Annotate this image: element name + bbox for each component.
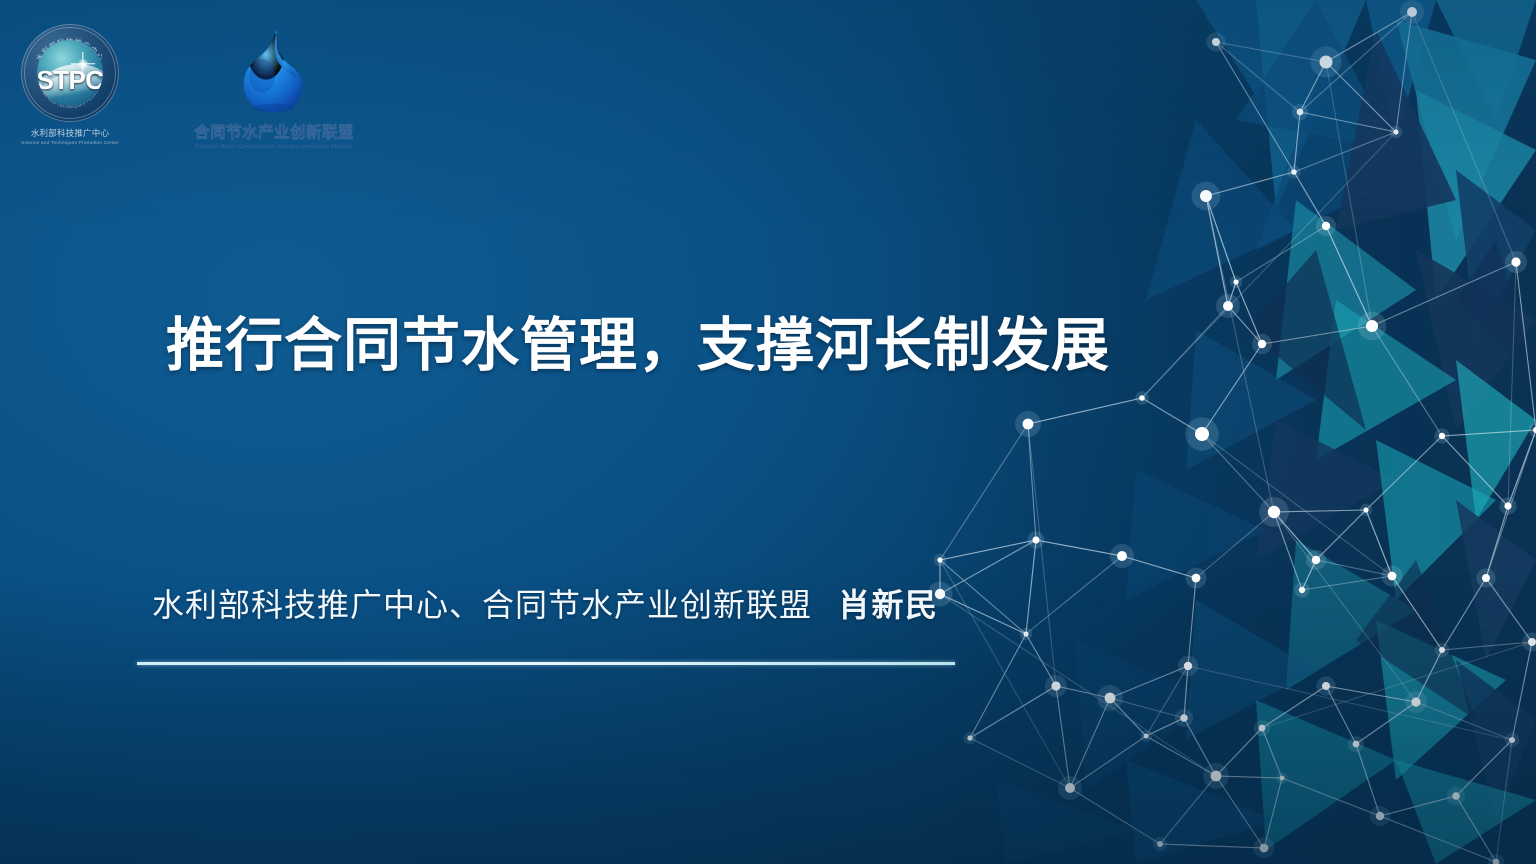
byline-organization: 水利部科技推广中心、合同节水产业创新联盟 [152,587,812,623]
water-drop-icon [238,28,310,116]
alliance-name-cn: 合同节水产业创新联盟 [194,120,354,142]
alliance-name-en: Contract Water Conservation Industry Inn… [195,144,353,150]
byline-presenter: 肖新民 [838,587,939,623]
title-slide: 水利部科技推广中心 SCIENCE AND TECHNIQUES PROMOTI… [0,0,1536,864]
stpc-seal-icon: 水利部科技推广中心 SCIENCE AND TECHNIQUES PROMOTI… [21,24,119,122]
logo-row: 水利部科技推广中心 SCIENCE AND TECHNIQUES PROMOTI… [18,24,364,150]
seal-inner-disc: STPC [37,40,103,106]
stpc-acronym: STPC [37,65,103,96]
stpc-name-cn: 水利部科技推广中心 [31,127,109,139]
divider-rule [137,662,955,665]
logo-stpc: 水利部科技推广中心 SCIENCE AND TECHNIQUES PROMOTI… [18,24,122,146]
slide-headline: 推行合同节水管理，支撑河长制发展 [166,298,1110,382]
slide-byline: 水利部科技推广中心、合同节水产业创新联盟肖新民 [152,580,939,626]
stpc-name-en: Science and Techniques Promotion Center [21,140,119,146]
logo-alliance: 合同节水产业创新联盟 Contract Water Conservation I… [184,24,364,150]
